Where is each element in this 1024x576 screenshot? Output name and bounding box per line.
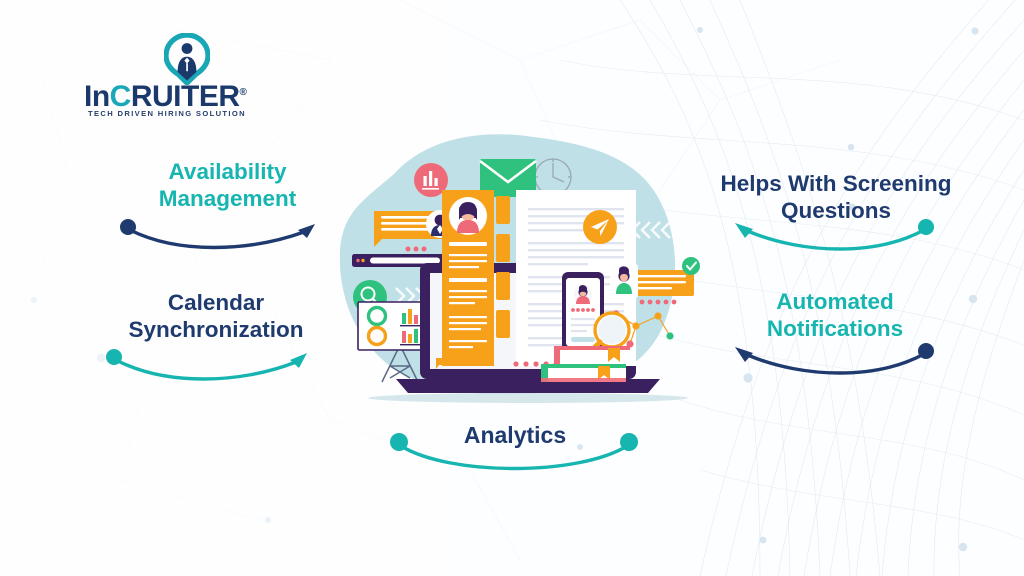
poster-canvas: InCRUITER® TECH DRIVEN HIRING SOLUTION: [0, 0, 1024, 576]
candidate-profile-panel: [442, 190, 494, 366]
logo-wordmark: InCRUITER®: [84, 79, 259, 107]
feature-label-notifications: Automated Notifications: [722, 288, 948, 342]
location-pin-person-icon: [164, 33, 210, 85]
arrow-endpoint-dot-right: [620, 433, 638, 451]
feature-arrow-calendar: [104, 348, 320, 382]
verified-check-icon: [682, 257, 700, 275]
logo-tagline: TECH DRIVEN HIRING SOLUTION: [88, 109, 268, 118]
candidate-avatar: [457, 202, 479, 233]
brand-logo[interactable]: InCRUITER® TECH DRIVEN HIRING SOLUTION: [84, 33, 259, 111]
feature-arrow-availability: [118, 218, 328, 252]
recruitment-platform-illustration: [330, 130, 710, 410]
star-rating-small: [406, 247, 427, 252]
book-bottom: [541, 364, 626, 382]
arrowhead: [298, 224, 315, 238]
arrowhead: [290, 353, 307, 368]
paper-plane-icon: [583, 210, 617, 244]
feature-label-screening: Helps With Screening Questions: [698, 170, 974, 224]
arrowhead: [735, 223, 753, 238]
feature-label-availability: Availability Management: [120, 158, 335, 212]
arrowhead: [735, 347, 753, 362]
feature-label-calendar: Calendar Synchronization: [100, 289, 332, 343]
feature-arrow-analytics: [388, 432, 640, 472]
feature-arrow-notifications: [726, 342, 936, 376]
registered-trademark-icon: ®: [240, 87, 247, 98]
feature-arrow-screening: [726, 218, 936, 252]
book-top: [554, 346, 630, 364]
stacked-books: [541, 346, 630, 382]
